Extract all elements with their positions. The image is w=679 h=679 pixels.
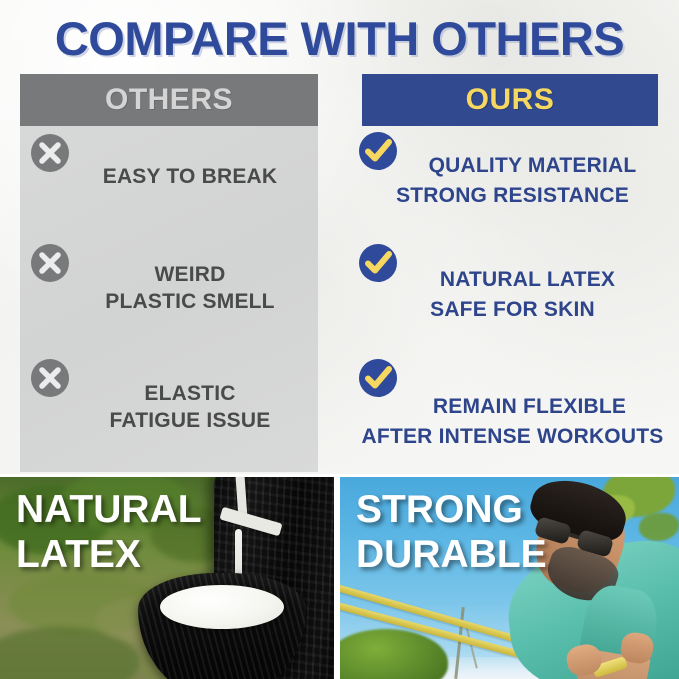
ours-column-header: OURS — [362, 74, 658, 126]
photo-natural-latex: NATURAL LATEX — [0, 477, 334, 679]
others-column-header: OTHERS — [20, 74, 318, 126]
comparison-infographic: COMPARE WITH OTHERS OTHERS OURS EASY TO … — [0, 0, 679, 679]
list-item: QUALITY MATERIAL STRONG RESISTANCE — [348, 131, 679, 243]
photo-caption-line2: DURABLE — [356, 532, 547, 577]
list-item-text: NATURAL LATEX SAFE FOR SKIN — [348, 265, 677, 325]
photo-caption: NATURAL LATEX — [16, 487, 202, 577]
ours-feature-list: QUALITY MATERIAL STRONG RESISTANCE NATUR… — [348, 126, 679, 472]
list-item-line1: EASY TO BREAK — [64, 163, 316, 190]
photo-caption-line2: LATEX — [16, 532, 202, 577]
others-feature-list: EASY TO BREAK WEIRD PLASTIC SMELL — [20, 126, 318, 472]
list-item: EASY TO BREAK — [20, 133, 318, 243]
list-item-line2: PLASTIC SMELL — [64, 288, 316, 315]
photo-caption: STRONG DURABLE — [356, 487, 547, 577]
list-item-line2: AFTER INTENSE WORKOUTS — [348, 422, 677, 452]
list-item-text: ELASTIC FATIGUE ISSUE — [64, 380, 316, 434]
list-item-text: WEIRD PLASTIC SMELL — [64, 261, 316, 315]
page-title: COMPARE WITH OTHERS — [0, 13, 679, 65]
list-item-line2: SAFE FOR SKIN — [348, 295, 677, 325]
list-item-text: REMAIN FLEXIBLE AFTER INTENSE WORKOUTS — [348, 392, 677, 452]
list-item-line1: REMAIN FLEXIBLE — [348, 392, 677, 422]
list-item-line1: QUALITY MATERIAL — [348, 151, 677, 181]
list-item-text: EASY TO BREAK — [64, 163, 316, 190]
list-item: REMAIN FLEXIBLE AFTER INTENSE WORKOUTS — [348, 358, 679, 470]
list-item-line1: NATURAL LATEX — [348, 265, 677, 295]
list-item: ELASTIC FATIGUE ISSUE — [20, 358, 318, 468]
photo-strong-durable: STRONG DURABLE — [340, 477, 679, 679]
photo-caption-line1: STRONG — [356, 487, 547, 532]
list-item-text: QUALITY MATERIAL STRONG RESISTANCE — [348, 151, 677, 211]
list-item-line1: ELASTIC — [64, 380, 316, 407]
list-item-line2: STRONG RESISTANCE — [348, 181, 677, 211]
list-item: WEIRD PLASTIC SMELL — [20, 243, 318, 353]
list-item: NATURAL LATEX SAFE FOR SKIN — [348, 243, 679, 355]
list-item-line2: FATIGUE ISSUE — [64, 407, 316, 434]
list-item-line1: WEIRD — [64, 261, 316, 288]
photo-caption-line1: NATURAL — [16, 487, 202, 532]
photo-strip: NATURAL LATEX — [0, 474, 679, 679]
